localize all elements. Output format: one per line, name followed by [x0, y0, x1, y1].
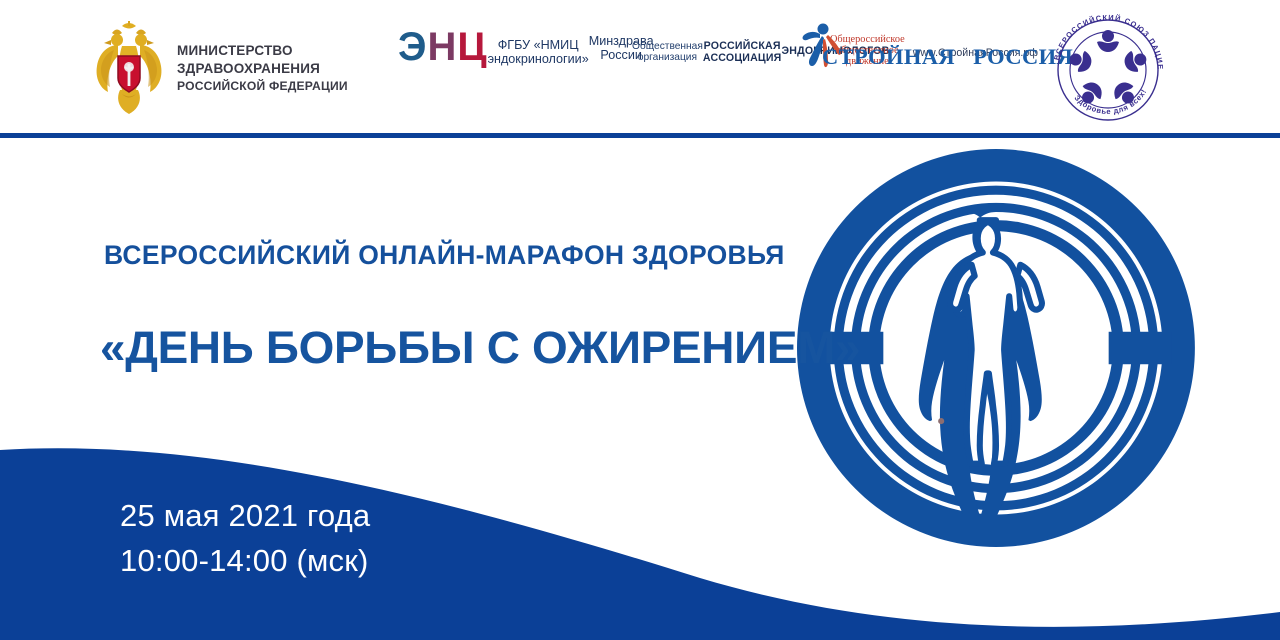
logo-rae-line1: Общественная организация	[632, 41, 703, 63]
enc-letter-ts: Ц	[457, 25, 487, 69]
enc-letter-n: Н	[427, 25, 457, 69]
page-title: «ДЕНЬ БОРЬБЫ С ОЖИРЕНИЕМ»	[100, 322, 860, 374]
logo-minzdrav[interactable]: МИНИСТЕРСТВО ЗДРАВООХРАНЕНИЯ РОССИЙСКОЙ …	[92, 18, 382, 118]
event-datetime: 25 мая 2021 года 10:00-14:00 (мск)	[120, 494, 370, 584]
logo-minzdrav-line1: МИНИСТЕРСТВО	[177, 42, 348, 60]
logo-stroynaya-rossiya[interactable]: СТРОЙНАЯ РОССИЯ Общероссийское обществен…	[822, 22, 1038, 76]
russian-coat-of-arms-icon	[92, 20, 166, 116]
vsp-arc-bottom-text: Здоровье для всех!	[1073, 87, 1149, 116]
header-divider	[0, 133, 1280, 138]
logo-rae[interactable]: РАЭ Общественная организация РОССИЙСКАЯ …	[632, 24, 816, 76]
logo-minzdrav-line3: РОССИЙСКОЙ ФЕДЕРАЦИИ	[177, 78, 348, 94]
partner-logo-band: МИНИСТЕРСТВО ЗДРАВООХРАНЕНИЯ РОССИЙСКОЙ …	[0, 0, 1280, 133]
logo-rae-line2: РОССИЙСКАЯ АССОЦИАЦИЯ	[703, 40, 782, 64]
kicker-text: ВСЕРОССИЙСКИЙ ОНЛАЙН-МАРАФОН ЗДОРОВЬЯ	[104, 240, 785, 271]
logo-vsp[interactable]: ВСЕРОССИЙСКИЙ СОЮЗ ПАЦИЕНТОВ Здоровье дл…	[1046, 12, 1170, 124]
event-date: 25 мая 2021 года	[120, 494, 370, 539]
logo-enc-line1: ФГБУ «НМИЦ эндокринологии»	[488, 38, 589, 66]
enc-wordmark: ЭНЦ	[398, 28, 488, 67]
sr-word-left: СТРОЙНАЯ	[822, 44, 955, 69]
logo-minzdrav-line2: ЗДРАВООХРАНЕНИЯ	[177, 60, 348, 78]
patients-union-roundel-icon: ВСЕРОССИЙСКИЙ СОЮЗ ПАЦИЕНТОВ Здоровье дл…	[1046, 12, 1170, 124]
svg-text:Здоровье для всех!: Здоровье для всех!	[1073, 87, 1149, 116]
enc-letter-e: Э	[398, 25, 427, 69]
event-time: 10:00-14:00 (мск)	[120, 539, 370, 584]
poster-canvas: МИНИСТЕРСТВО ЗДРАВООХРАНЕНИЯ РОССИЙСКОЙ …	[0, 0, 1280, 640]
logo-enc[interactable]: ЭНЦ ФГБУ «НМИЦ эндокринологии» Минздрава…	[398, 28, 616, 67]
